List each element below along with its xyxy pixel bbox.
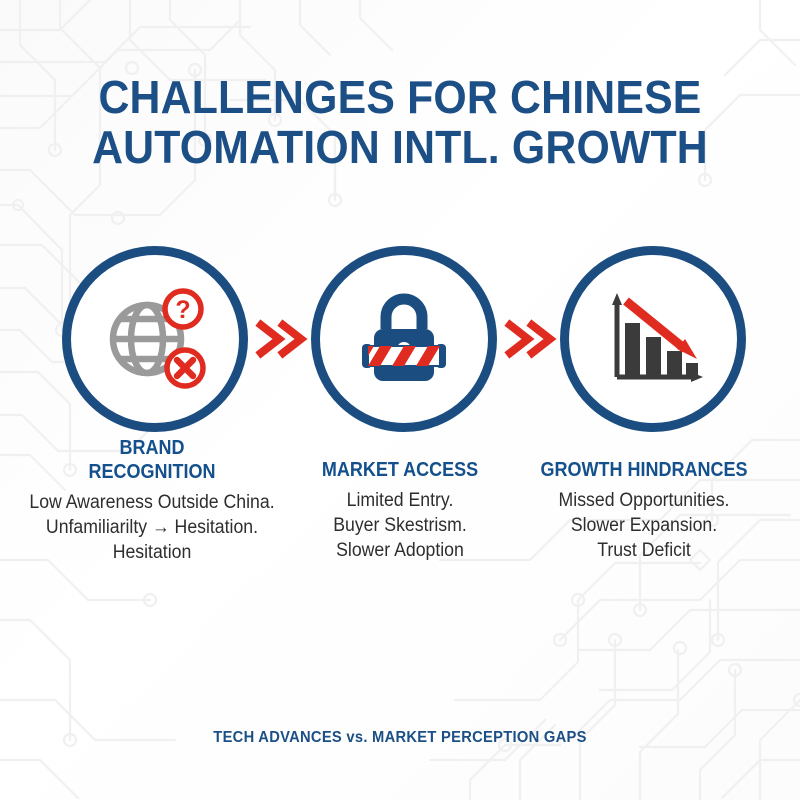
caption-body-line: Missed Opportunities. [516, 488, 773, 513]
caption-body-line: Trust Deficit [516, 538, 773, 563]
infographic-canvas: CHALLENGES FOR CHINESE AUTOMATION INTL. … [0, 0, 800, 800]
caption-body-market-access: Limited Entry. Buyer Skestrism. Slower A… [262, 488, 538, 563]
caption-body-line: Unfamiliarilty → Hesitation. [24, 515, 281, 540]
page-title-line-1: CHALLENGES FOR CHINESE [28, 72, 772, 122]
caption-body-brand-recognition: Low Awareness Outside China. Unfamiliari… [14, 490, 290, 565]
globe-question-error-icon: ? [95, 279, 215, 399]
page-title: CHALLENGES FOR CHINESE AUTOMATION INTL. … [0, 72, 800, 172]
caption-heading-line-2: RECOGNITION [28, 460, 276, 484]
footer-tagline: TECH ADVANCES vs. MARKET PERCEPTION GAPS [32, 729, 768, 747]
connector-arrow-2 [501, 316, 561, 362]
padlock-barrier-icon [344, 279, 464, 399]
step-circle-growth-hindrances[interactable] [560, 246, 746, 432]
caption-body-line: Hesitation [24, 540, 281, 565]
caption-body-line: Buyer Skestrism. [272, 513, 529, 538]
caption-heading-line-1: GROWTH HINDRANCES [520, 458, 768, 482]
caption-market-access: MARKET ACCESS Limited Entry. Buyer Skest… [262, 458, 538, 563]
caption-heading-line-1: BRAND [28, 436, 276, 460]
caption-body-line: Limited Entry. [272, 488, 529, 513]
caption-growth-hindrances: GROWTH HINDRANCES Missed Opportunities. … [506, 458, 782, 563]
caption-brand-recognition: BRAND RECOGNITION Low Awareness Outside … [14, 436, 290, 565]
page-title-line-2: AUTOMATION INTL. GROWTH [28, 122, 772, 172]
step-circle-brand-recognition[interactable]: ? [62, 246, 248, 432]
caption-body-line: Slower Expansion. [516, 513, 773, 538]
connector-arrow-1 [252, 316, 312, 362]
declining-bar-chart-icon [593, 279, 713, 399]
steps-row: ? [0, 246, 800, 432]
caption-heading-line-1: MARKET ACCESS [276, 458, 524, 482]
svg-text:?: ? [175, 296, 190, 324]
caption-body-line: Low Awareness Outside China. [24, 490, 281, 515]
caption-body-line: Slower Adoption [272, 538, 529, 563]
captions-row: BRAND RECOGNITION Low Awareness Outside … [0, 436, 800, 586]
step-circle-market-access[interactable] [311, 246, 497, 432]
double-chevron-right-icon [504, 319, 558, 359]
footer: TECH ADVANCES vs. MARKET PERCEPTION GAPS [0, 729, 800, 747]
double-chevron-right-icon [255, 319, 309, 359]
caption-body-growth-hindrances: Missed Opportunities. Slower Expansion. … [506, 488, 782, 563]
